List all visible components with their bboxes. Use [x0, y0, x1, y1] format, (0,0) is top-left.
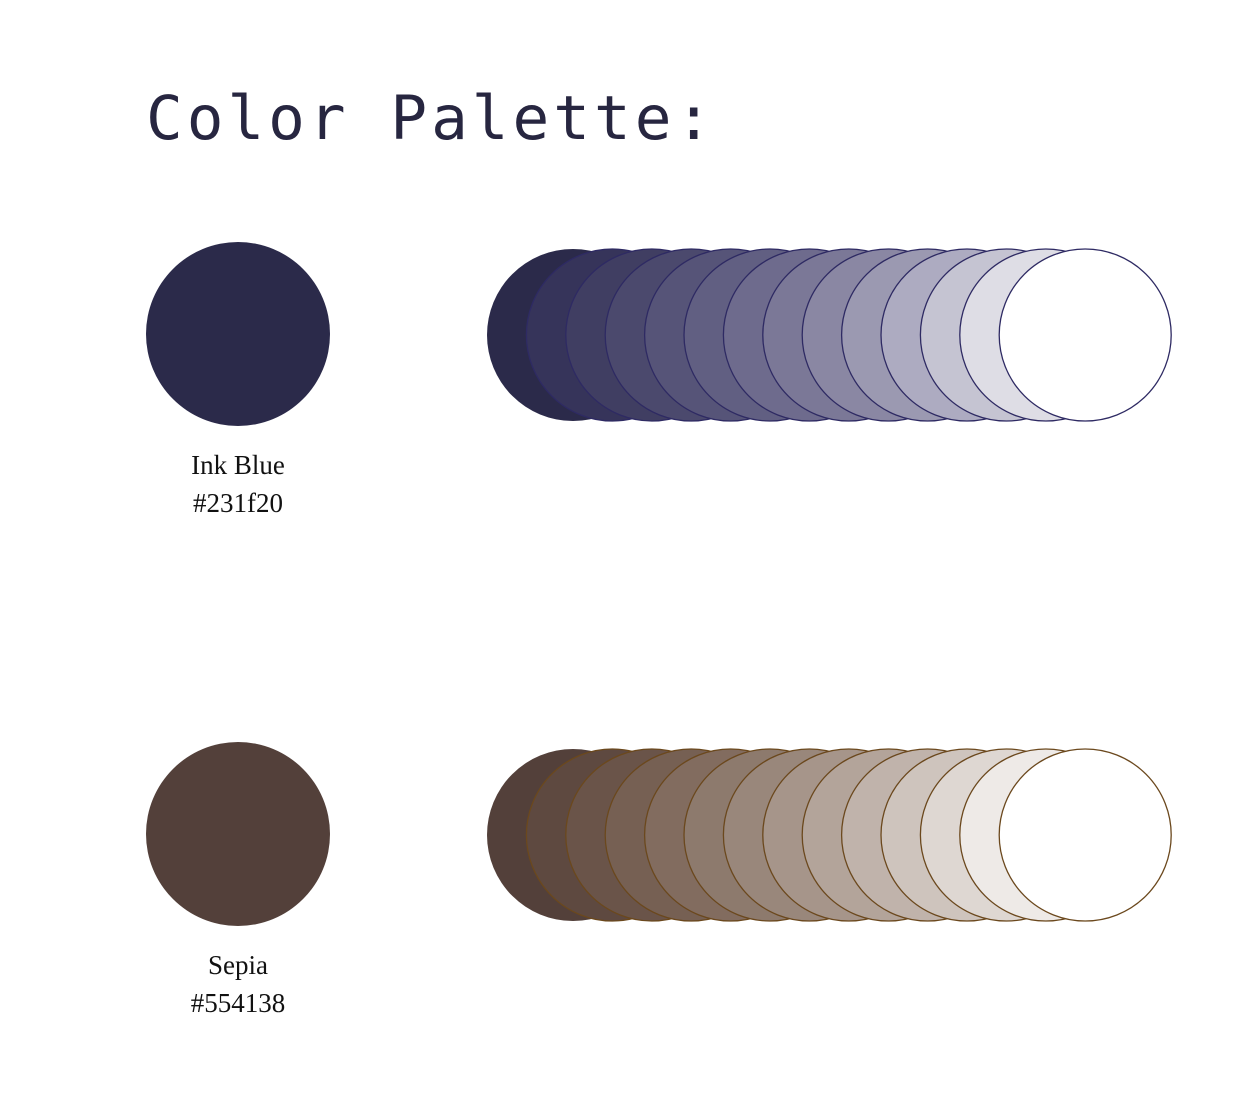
palette-row-ink-blue: Ink Blue #231f20	[0, 230, 1240, 530]
swatch-main-ink-blue[interactable]	[146, 242, 330, 426]
page-title: Color Palette:	[146, 88, 716, 149]
swatch-label-ink-blue: Ink Blue #231f20	[146, 446, 330, 522]
tint-circle[interactable]	[999, 749, 1171, 921]
swatch-label-sepia: Sepia #554138	[146, 946, 330, 1022]
swatch-main-sepia[interactable]	[146, 742, 330, 926]
swatch-name: Sepia	[146, 946, 330, 984]
tint-circle[interactable]	[999, 249, 1171, 421]
swatch-name: Ink Blue	[146, 446, 330, 484]
tint-strip-ink-blue	[455, 230, 1215, 440]
swatch-hex: #231f20	[146, 484, 330, 522]
palette-row-sepia: Sepia #554138	[0, 730, 1240, 1030]
tint-strip-sepia	[455, 730, 1215, 940]
swatch-hex: #554138	[146, 984, 330, 1022]
